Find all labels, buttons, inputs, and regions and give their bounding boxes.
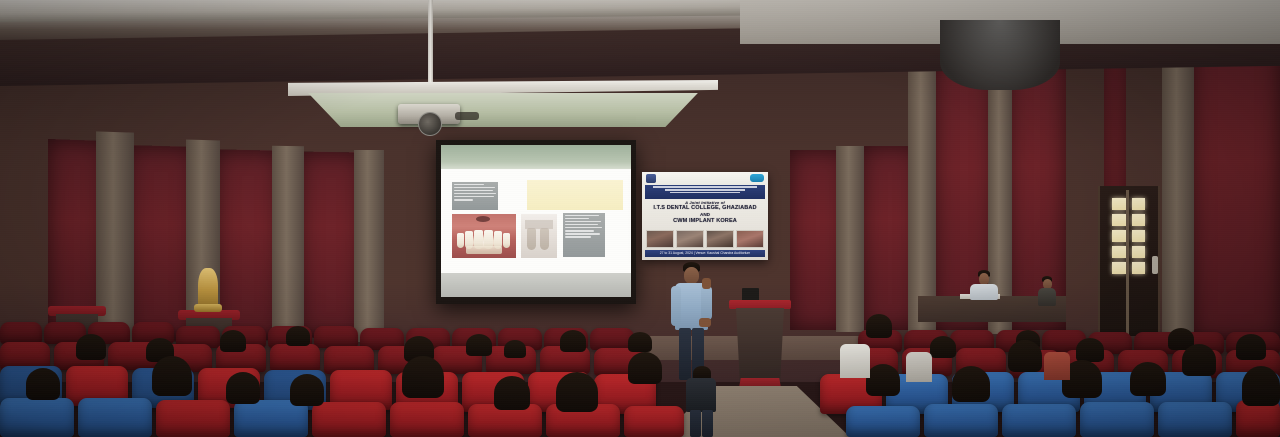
slide-text-box-left <box>452 182 498 210</box>
wall-pillar <box>1162 30 1194 340</box>
speaker <box>668 262 718 380</box>
seat[interactable] <box>1080 402 1154 437</box>
aisle-standing-person <box>684 366 718 437</box>
slide-radiograph <box>521 214 557 258</box>
projector-lens-icon <box>418 112 442 136</box>
its-logo-icon <box>646 174 656 183</box>
seat[interactable] <box>624 406 684 437</box>
seat[interactable] <box>390 402 464 437</box>
ceiling-fixture <box>940 20 1060 90</box>
audience-head <box>494 376 530 410</box>
audience-head <box>628 332 652 352</box>
audience-torso <box>840 344 870 378</box>
banner-photo <box>646 230 674 248</box>
door-glass-panel <box>1132 198 1145 210</box>
door-glass-panel <box>1132 262 1145 274</box>
audience-torso <box>1044 352 1070 380</box>
audience-head <box>504 340 526 358</box>
slide-highlight-box <box>527 180 623 210</box>
wall-pillar <box>908 56 936 334</box>
podium-top-surface <box>729 300 791 309</box>
audience-head <box>560 330 586 352</box>
door-glass-panel <box>1112 262 1126 274</box>
person-torso <box>686 378 716 412</box>
seat[interactable] <box>0 322 42 344</box>
audience-head <box>952 366 990 402</box>
seat[interactable] <box>0 398 74 437</box>
banner-photo <box>676 230 704 248</box>
audience-head <box>1076 338 1104 362</box>
seat[interactable] <box>924 404 998 437</box>
person-leg <box>702 410 713 437</box>
door-glass-panel <box>1112 214 1126 226</box>
official-shirt <box>970 284 998 300</box>
door-glass-panel <box>1132 230 1145 242</box>
slide-clinical-photo <box>452 214 516 258</box>
door-glass-panel <box>1132 246 1145 258</box>
event-banner: A Joint Initiative of I.T.S DENTAL COLLE… <box>642 172 768 260</box>
audience-head <box>152 356 192 396</box>
seat[interactable] <box>314 326 358 348</box>
attendant-torso <box>1038 288 1056 306</box>
audience-head <box>1242 366 1280 406</box>
slide-text-box-right <box>563 213 605 257</box>
slide-top-band <box>441 145 631 169</box>
seat[interactable] <box>156 400 230 437</box>
audience-head <box>866 364 900 396</box>
projector-cable <box>455 112 479 120</box>
banner-photo <box>706 230 734 248</box>
suspended-panel-underside <box>300 93 706 127</box>
banner-photo-strip <box>646 230 764 248</box>
wall-panel <box>1192 40 1280 340</box>
wall-pillar <box>354 150 384 342</box>
audience-head <box>866 314 892 338</box>
seat[interactable] <box>270 344 320 372</box>
wall-pillar <box>836 146 864 332</box>
audience-head <box>556 372 598 412</box>
person-leg <box>690 410 701 437</box>
audience-head <box>76 334 106 360</box>
wall-pillar <box>272 146 304 345</box>
audience-head <box>226 372 260 404</box>
audience-head <box>1130 362 1166 396</box>
door-glass-panel <box>1112 246 1126 258</box>
audience-head <box>26 368 60 400</box>
exit-door[interactable] <box>1098 186 1160 336</box>
banner-photo <box>736 230 764 248</box>
seat[interactable] <box>846 406 920 437</box>
banner-org-2: CWM IMPLANT KOREA <box>642 219 768 225</box>
door-glass-panel <box>1132 214 1145 226</box>
audience-head <box>1182 344 1216 376</box>
audience-head <box>290 374 324 406</box>
seat[interactable] <box>78 398 152 437</box>
standing-attendant <box>1036 276 1058 306</box>
speaker-arm-left <box>671 286 681 326</box>
slide-bottom-band <box>441 273 631 297</box>
seat[interactable] <box>312 402 386 437</box>
audience-head <box>1008 340 1042 372</box>
speaker-hand-clicker <box>699 318 711 327</box>
audience-head <box>1236 334 1266 360</box>
seat[interactable] <box>1158 402 1232 437</box>
banner-org-1: I.T.S DENTAL COLLEGE, GHAZIABAD <box>642 206 768 212</box>
audience-head <box>466 334 492 356</box>
audience-head <box>402 356 444 398</box>
speaker-head <box>684 267 699 284</box>
audience-torso <box>906 352 932 382</box>
cwm-logo-icon <box>750 174 764 182</box>
speaker-hand-raised <box>702 278 711 289</box>
audience-head <box>628 352 662 384</box>
speaker-arm-right <box>701 286 712 320</box>
statue-base <box>194 304 222 312</box>
audience-head <box>286 326 310 346</box>
door-glass-panel <box>1112 198 1126 210</box>
banner-program-band <box>645 185 766 199</box>
audience-head <box>220 330 246 352</box>
projection-screen <box>441 145 631 297</box>
seat[interactable] <box>1002 404 1076 437</box>
door-glass-panel <box>1112 230 1126 242</box>
door-mullion <box>1126 190 1129 336</box>
banner-footer: 27 to 31 August, 2024 | Venue: Kaushal C… <box>645 250 766 257</box>
wall-panel <box>300 152 362 339</box>
audience-head <box>930 336 956 358</box>
auditorium-photograph: A Joint Initiative of I.T.S DENTAL COLLE… <box>0 0 1280 437</box>
podium-body <box>736 308 784 382</box>
seated-official <box>968 270 1000 300</box>
door-handle[interactable] <box>1152 256 1158 274</box>
